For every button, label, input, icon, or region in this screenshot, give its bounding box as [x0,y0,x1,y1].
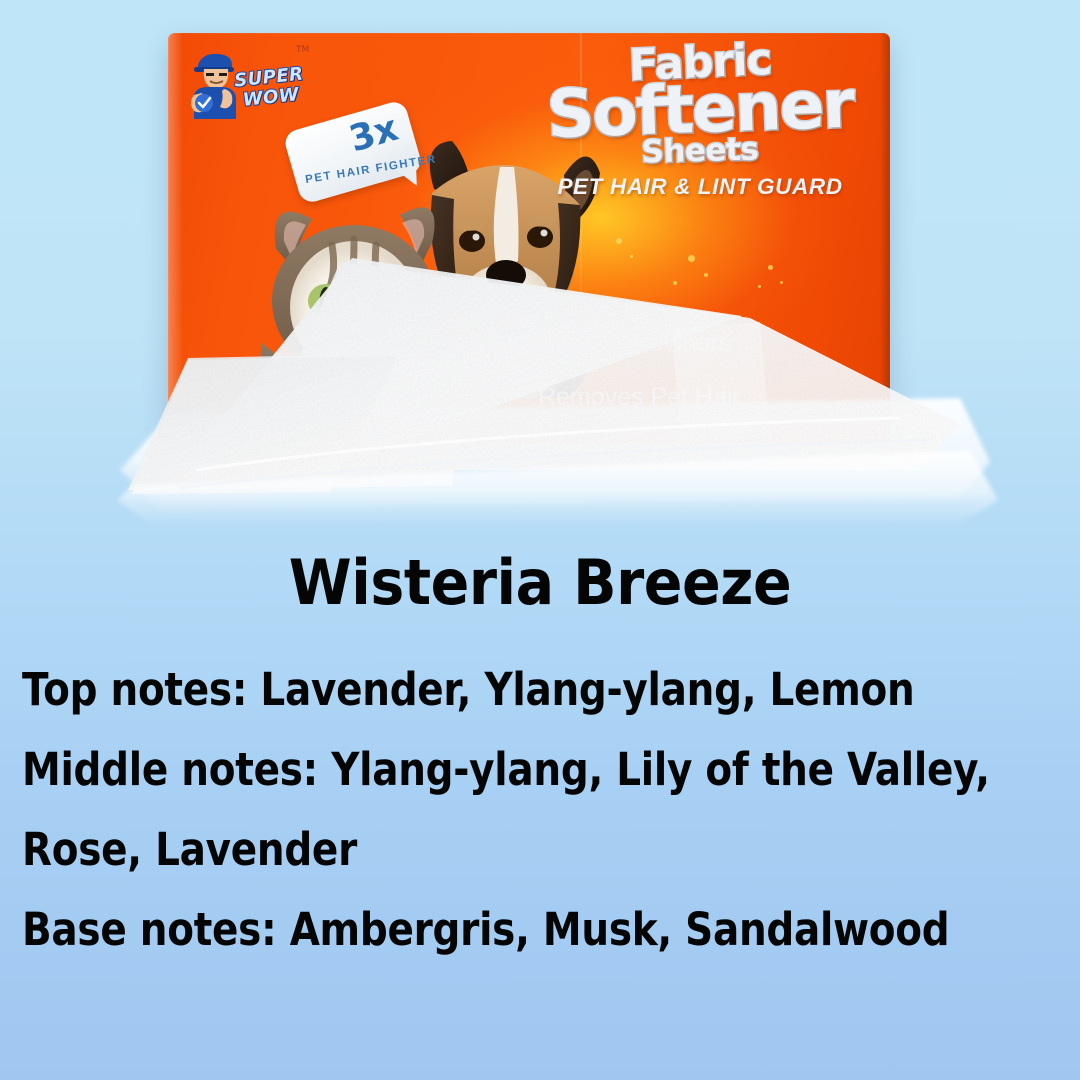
brand-name-line-2: WOW [242,86,300,110]
box-blue-tab [176,409,206,443]
sheet-stack-front [118,450,998,524]
product-photo: SUPER WOW TM 3x PET HAIR FIGHTER Fabric … [0,0,1080,535]
scent-title: Wisteria Breeze [43,546,1037,619]
scent-note-line: Top notes: Lavender, Ylang-ylang, Lemon [22,650,927,730]
box-left-spine [168,33,182,443]
box-right-edge [880,33,890,443]
scent-note-line: Base notes: Ambergris, Musk, Sandalwood [22,890,927,970]
scent-notes-list: Top notes: Lavender, Ylang-ylang, Lemon … [22,650,1068,970]
trademark-symbol: TM [296,45,309,55]
scent-description-block: Wisteria Breeze Top notes: Lavender, Yla… [0,528,1080,1080]
scent-note-line: Rose, Lavender [22,810,927,890]
product-box: SUPER WOW TM 3x PET HAIR FIGHTER Fabric … [168,33,890,443]
scent-note-line: Middle notes: Ylang-ylang, Lily of the V… [22,730,927,810]
brand-wordmark: SUPER WOW [230,60,311,116]
box-marketing-line-2: Removes Pet Hair [538,383,741,412]
badge-multiplier: 3x [346,111,402,159]
headline-subtitle: PET HAIR & LINT GUARD [520,174,880,200]
box-headline: Fabric Softener Sheets PET HAIR & LINT G… [520,43,880,200]
cat-photo [254,183,454,413]
brand-logo: SUPER WOW [188,51,306,121]
box-marketing-line-1: Softener for Pet Owners [463,329,731,358]
